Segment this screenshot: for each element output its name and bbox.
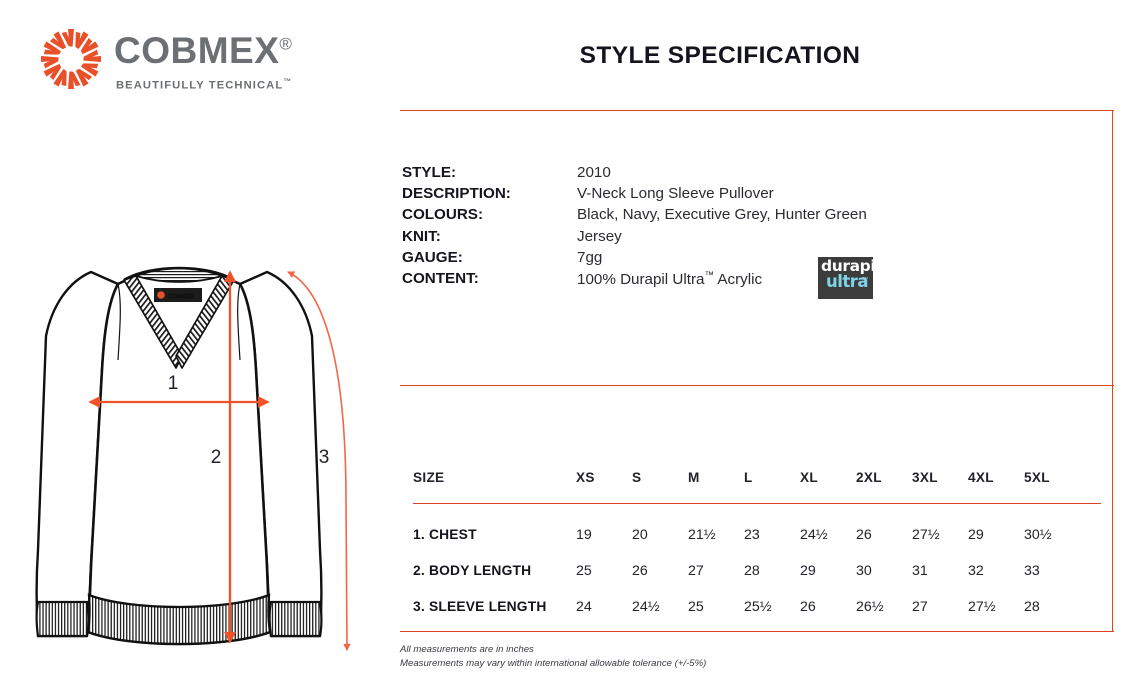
- callout-label-2: 2: [211, 447, 222, 468]
- spec-value-style: 2010: [577, 164, 611, 181]
- body-2xl: 30: [856, 563, 872, 579]
- sleeve-s: 24½: [632, 599, 660, 615]
- body-xs: 25: [576, 563, 592, 579]
- divider-middle: [400, 385, 1114, 386]
- spec-label-description: DESCRIPTION:: [402, 185, 511, 202]
- garment-technical-drawing: COBMEX 1 2 3: [30, 250, 390, 680]
- spec-value-description: V-Neck Long Sleeve Pullover: [577, 185, 774, 202]
- brand-logo: COBMEX® BEAUTIFULLY TECHNICAL™: [38, 24, 338, 96]
- sleeve-l: 25½: [744, 599, 772, 615]
- brand-wordmark: COBMEX®: [114, 32, 292, 69]
- sleeve-m: 25: [688, 599, 704, 615]
- spec-label-knit: KNIT:: [402, 228, 441, 245]
- spec-row-style: STYLE: 2010: [402, 164, 1102, 185]
- callout-label-3: 3: [319, 447, 330, 468]
- chest-3xl: 27½: [912, 527, 940, 543]
- chest-4xl: 29: [968, 527, 984, 543]
- trademark-icon: ™: [283, 77, 292, 86]
- spec-label-colours: COLOURS:: [402, 206, 483, 223]
- chest-l: 23: [744, 527, 760, 543]
- table-header-underline: [413, 503, 1101, 504]
- brand-tagline: BEAUTIFULLY TECHNICAL™: [116, 77, 292, 92]
- body-xl: 29: [800, 563, 816, 579]
- chest-s: 20: [632, 527, 648, 543]
- durapil-trademark-icon: ™: [862, 277, 868, 283]
- specification-list: STYLE: 2010 DESCRIPTION: V-Neck Long Sle…: [402, 164, 1102, 291]
- column-header-s: S: [632, 470, 641, 485]
- divider-top: [400, 110, 1114, 111]
- footnote-units: All measurements are in inches: [400, 643, 706, 657]
- chest-xs: 19: [576, 527, 592, 543]
- chest-m: 21½: [688, 527, 716, 543]
- column-header-xl: XL: [800, 470, 818, 485]
- row-label-sleeve-length: 3. SLEEVE LENGTH: [413, 599, 547, 614]
- page-header: COBMEX® BEAUTIFULLY TECHNICAL™ STYLE SPE…: [0, 0, 1142, 100]
- durapil-ultra-logo: durapil ultra ™: [818, 257, 873, 299]
- sleeve-xl: 26: [800, 599, 816, 615]
- sleeve-xs: 24: [576, 599, 592, 615]
- spec-row-gauge: GAUGE: 7gg: [402, 249, 1102, 270]
- body-3xl: 31: [912, 563, 928, 579]
- row-label-body-length: 2. BODY LENGTH: [413, 563, 531, 578]
- brand-name: COBMEX: [114, 30, 279, 71]
- row-label-chest: 1. CHEST: [413, 527, 477, 542]
- divider-bottom: [400, 631, 1114, 632]
- chest-xl: 24½: [800, 527, 828, 543]
- spec-row-content: CONTENT: 100% Durapil Ultra™ Acrylic: [402, 270, 1102, 291]
- brand-tagline-text: BEAUTIFULLY TECHNICAL: [116, 80, 283, 92]
- spec-label-content: CONTENT:: [402, 270, 479, 287]
- body-l: 28: [744, 563, 760, 579]
- body-m: 27: [688, 563, 704, 579]
- sleeve-3xl: 27: [912, 599, 928, 615]
- column-header-l: L: [744, 470, 753, 485]
- footnote-tolerance: Measurements may vary within internation…: [400, 657, 706, 671]
- sleeve-5xl: 28: [1024, 599, 1040, 615]
- chest-5xl: 30½: [1024, 527, 1052, 543]
- spec-label-gauge: GAUGE:: [402, 249, 463, 266]
- spec-value-knit: Jersey: [577, 228, 622, 245]
- divider-right-edge: [1112, 110, 1113, 632]
- column-header-4xl: 4XL: [968, 470, 994, 485]
- sweater-outline: COBMEX: [37, 268, 322, 644]
- spec-row-description: DESCRIPTION: V-Neck Long Sleeve Pullover: [402, 185, 1102, 206]
- column-header-5xl: 5XL: [1024, 470, 1050, 485]
- body-5xl: 33: [1024, 563, 1040, 579]
- spec-value-gauge: 7gg: [577, 249, 602, 266]
- spec-row-knit: KNIT: Jersey: [402, 228, 1102, 249]
- callout-label-1: 1: [168, 373, 179, 394]
- body-4xl: 32: [968, 563, 984, 579]
- column-header-xs: XS: [576, 470, 595, 485]
- column-header-3xl: 3XL: [912, 470, 938, 485]
- spec-row-colours: COLOURS: Black, Navy, Executive Grey, Hu…: [402, 206, 1102, 227]
- cobmex-starburst-logo-icon: [38, 26, 104, 92]
- spec-label-style: STYLE:: [402, 164, 456, 181]
- column-header-m: M: [688, 470, 700, 485]
- spec-value-content: 100% Durapil Ultra™ Acrylic: [577, 270, 762, 288]
- sleeve-2xl: 26½: [856, 599, 884, 615]
- column-header-size: SIZE: [413, 470, 444, 485]
- page-title: STYLE SPECIFICATION: [430, 42, 1010, 70]
- registered-trademark-icon: ®: [279, 35, 292, 54]
- sleeve-4xl: 27½: [968, 599, 996, 615]
- body-s: 26: [632, 563, 648, 579]
- chest-2xl: 26: [856, 527, 872, 543]
- svg-text:COBMEX: COBMEX: [168, 294, 194, 300]
- column-header-2xl: 2XL: [856, 470, 882, 485]
- spec-value-colours: Black, Navy, Executive Grey, Hunter Gree…: [577, 206, 867, 223]
- footnotes: All measurements are in inches Measureme…: [400, 643, 706, 671]
